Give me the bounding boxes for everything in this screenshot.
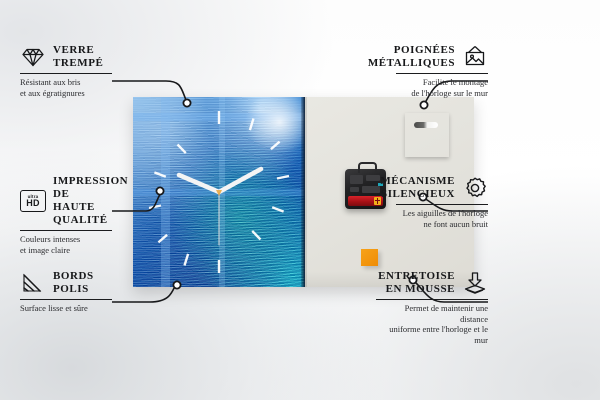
foam-spacer bbox=[361, 249, 378, 266]
callout-title: MÉCANISME SILENCIEUX bbox=[380, 175, 455, 201]
callout-title: ENTRETOISE EN MOUSSE bbox=[378, 270, 455, 296]
mechanism-hook bbox=[358, 162, 377, 173]
mechanism-detail bbox=[366, 175, 380, 181]
callout-subtitle: Les aiguilles de l'horloge ne font aucun… bbox=[396, 208, 488, 229]
clock-hands-and-markers bbox=[133, 97, 305, 287]
battery bbox=[348, 196, 383, 206]
callout-verre-trempe[interactable]: VERRE TREMPÉ Résistant aux bris et aux é… bbox=[20, 44, 112, 98]
callout-mecanisme-silencieux[interactable]: MÉCANISME SILENCIEUX Les aiguilles de l'… bbox=[396, 175, 488, 229]
polished-edges-icon bbox=[20, 270, 46, 296]
callout-header: BORDS POLIS bbox=[20, 270, 112, 296]
callout-title: POIGNÉES MÉTALLIQUES bbox=[368, 44, 455, 70]
callout-entretoise-mousse[interactable]: ENTRETOISE EN MOUSSE Permet de maintenir… bbox=[376, 270, 488, 345]
callout-title: BORDS POLIS bbox=[53, 270, 94, 296]
callout-subtitle: Couleurs intenses et image claire bbox=[20, 234, 112, 255]
panel-seam bbox=[305, 97, 307, 287]
callout-subtitle: Facilite le montage de l'horloge sur le … bbox=[396, 77, 488, 98]
callout-title: VERRE TREMPÉ bbox=[53, 44, 103, 70]
ultra-hd-icon: ultra HD bbox=[20, 190, 46, 212]
mechanism-detail bbox=[362, 186, 380, 193]
metal-hanger bbox=[405, 113, 449, 157]
callout-title: IMPRESSION DE HAUTE QUALITÉ bbox=[53, 175, 128, 227]
callout-bords-polis[interactable]: BORDS POLIS Surface lisse et sûre bbox=[20, 270, 112, 314]
clock-front-face bbox=[133, 97, 305, 287]
callout-poignees-metalliques[interactable]: POIGNÉES MÉTALLIQUES Facilite le montage… bbox=[396, 44, 488, 98]
callout-subtitle: Résistant aux bris et aux égratignures bbox=[20, 77, 112, 98]
picture-hanger-icon bbox=[462, 44, 488, 70]
callout-subtitle: Permet de maintenir une distance uniform… bbox=[376, 303, 488, 345]
diamond-icon bbox=[20, 44, 46, 70]
mechanism-detail bbox=[350, 175, 363, 184]
callout-rule bbox=[20, 299, 112, 300]
ultra-hd-icon-main-text: HD bbox=[26, 199, 40, 208]
callout-impression-haute-qualite[interactable]: ultra HD IMPRESSION DE HAUTE QUALITÉ Cou… bbox=[20, 175, 112, 255]
hanger-slot bbox=[414, 122, 438, 128]
callout-header: MÉCANISME SILENCIEUX bbox=[396, 175, 488, 201]
callout-rule bbox=[396, 204, 488, 205]
mechanism-detail bbox=[350, 187, 359, 192]
callout-header: ultra HD IMPRESSION DE HAUTE QUALITÉ bbox=[20, 175, 112, 227]
callout-rule bbox=[20, 230, 112, 231]
callout-header: ENTRETOISE EN MOUSSE bbox=[376, 270, 488, 296]
callout-rule bbox=[396, 73, 488, 74]
callout-subtitle: Surface lisse et sûre bbox=[20, 303, 112, 314]
gear-icon bbox=[462, 175, 488, 201]
callout-header: POIGNÉES MÉTALLIQUES bbox=[396, 44, 488, 70]
foam-spacer-icon bbox=[462, 270, 488, 296]
callout-rule bbox=[20, 73, 112, 74]
callout-rule bbox=[376, 299, 488, 300]
callout-header: VERRE TREMPÉ bbox=[20, 44, 112, 70]
infographic-canvas: VERRE TREMPÉ Résistant aux bris et aux é… bbox=[0, 0, 600, 400]
